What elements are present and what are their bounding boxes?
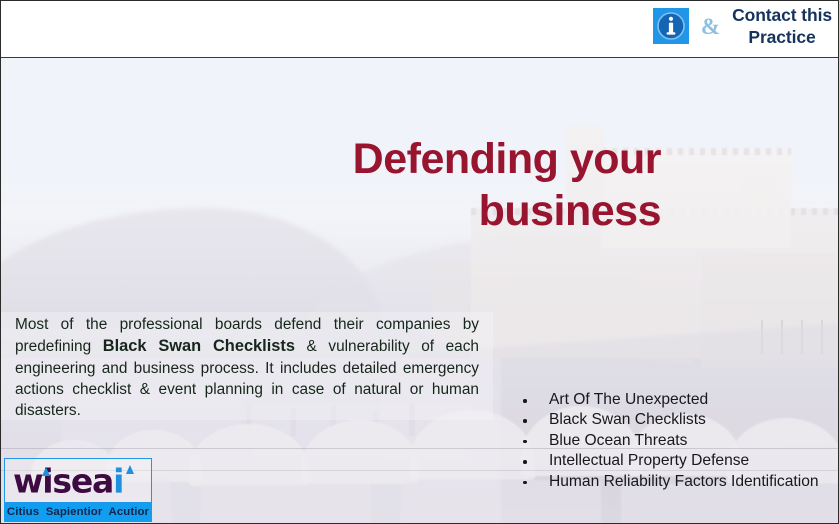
logo-word-dark: wisea <box>13 461 113 500</box>
header-band: & Contact this Practice <box>1 1 839 58</box>
logo-triangle-accent-2-icon <box>126 465 134 474</box>
list-item[interactable]: Art Of The Unexpected <box>513 390 835 410</box>
photo-fortress-tower-right <box>743 163 777 233</box>
list-item[interactable]: Blue Ocean Threats <box>513 431 835 451</box>
ampersand-label: & <box>699 15 722 38</box>
paragraph-bold-term: Black Swan Checklists <box>103 337 295 355</box>
slide-title: Defending your business <box>121 133 661 238</box>
wiseai-logo[interactable]: wiseai Citius Sapientior Acutior <box>4 458 152 522</box>
contact-this-practice-button[interactable]: & Contact this Practice <box>653 4 832 49</box>
topic-bullet-list: Art Of The Unexpected Black Swan Checkli… <box>513 390 835 492</box>
list-item[interactable]: Human Reliability Factors Identification <box>513 472 835 492</box>
logo-word-blue-i: i <box>113 461 123 500</box>
photo-lowroof-2 <box>201 483 371 524</box>
info-icon[interactable] <box>653 8 689 44</box>
body-paragraph: Most of the professional boards defend t… <box>15 314 479 422</box>
logo-triangle-accent-icon <box>42 467 50 476</box>
list-item[interactable]: Black Swan Checklists <box>513 410 835 430</box>
logo-wordmark-box: wiseai <box>4 458 152 503</box>
logo-tagline: Citius Sapientior Acutior <box>4 503 152 522</box>
contact-this-practice-label: Contact this Practice <box>732 4 832 49</box>
logo-wordmark: wiseai <box>13 464 123 497</box>
list-item[interactable]: Intellectual Property Defense <box>513 451 835 471</box>
slide-canvas: & Contact this Practice Defending your b… <box>0 0 839 524</box>
